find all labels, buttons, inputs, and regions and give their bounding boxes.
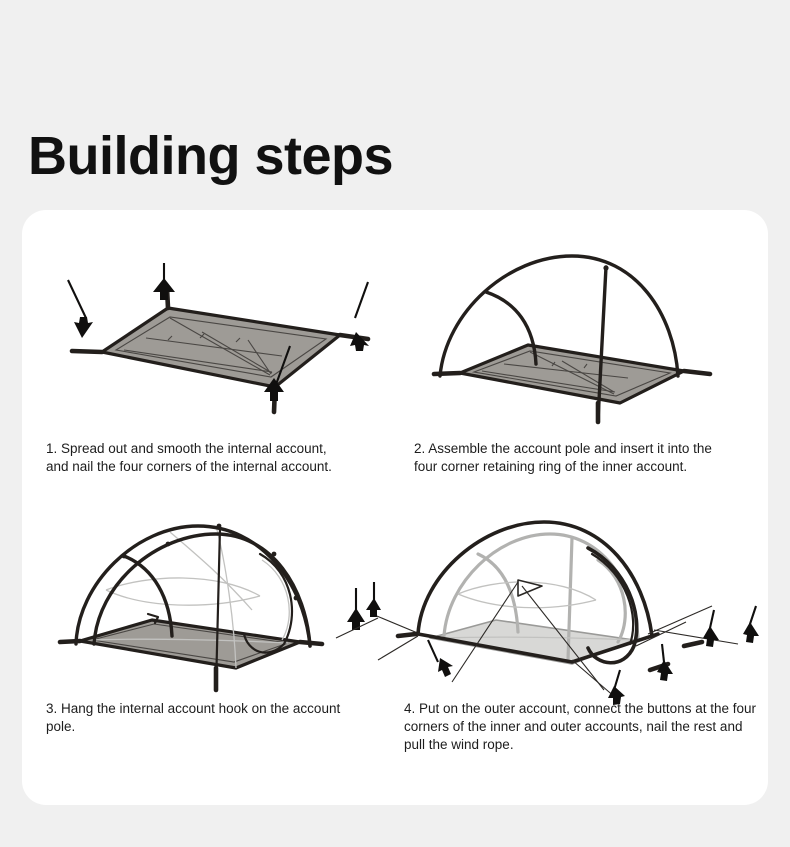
rainfly-and-guyline-diagram (372, 510, 767, 705)
tent-pole-assembly-diagram (412, 240, 752, 430)
step-3-caption: 3. Hang the internal account hook on the… (46, 700, 346, 736)
step-1-cell: 1. Spread out and smooth the internal ac… (30, 230, 380, 515)
step-3-cell: 3. Hang the internal account hook on the… (30, 500, 380, 785)
step-2-caption: 2. Assemble the account pole and insert … (414, 440, 734, 476)
ground-sheet (80, 620, 300, 668)
tent-groundsheet-staking-diagram (50, 260, 380, 440)
stake-arrow-right-inner (657, 644, 673, 681)
page-root: Building steps (0, 0, 790, 847)
stake-arrow-right-mid (703, 610, 719, 647)
stake-arrow-left (68, 280, 93, 338)
inner-tent-hanging-diagram (48, 510, 388, 700)
ground-sheet (460, 345, 684, 403)
step-4-caption: 4. Put on the outer account, connect the… (404, 700, 764, 754)
page-title: Building steps (28, 128, 393, 185)
stake-arrow-top (153, 263, 175, 300)
stake-arrow-lower-left (428, 640, 453, 677)
stake-arrow-far-right (743, 606, 759, 643)
steps-card: 1. Spread out and smooth the internal ac… (22, 210, 768, 805)
step-1-caption: 1. Spread out and smooth the internal ac… (46, 440, 346, 476)
pole-joint (603, 265, 608, 270)
step-4-cell: 4. Put on the outer account, connect the… (370, 500, 765, 785)
step-2-cell: 2. Assemble the account pole and insert … (390, 220, 760, 515)
